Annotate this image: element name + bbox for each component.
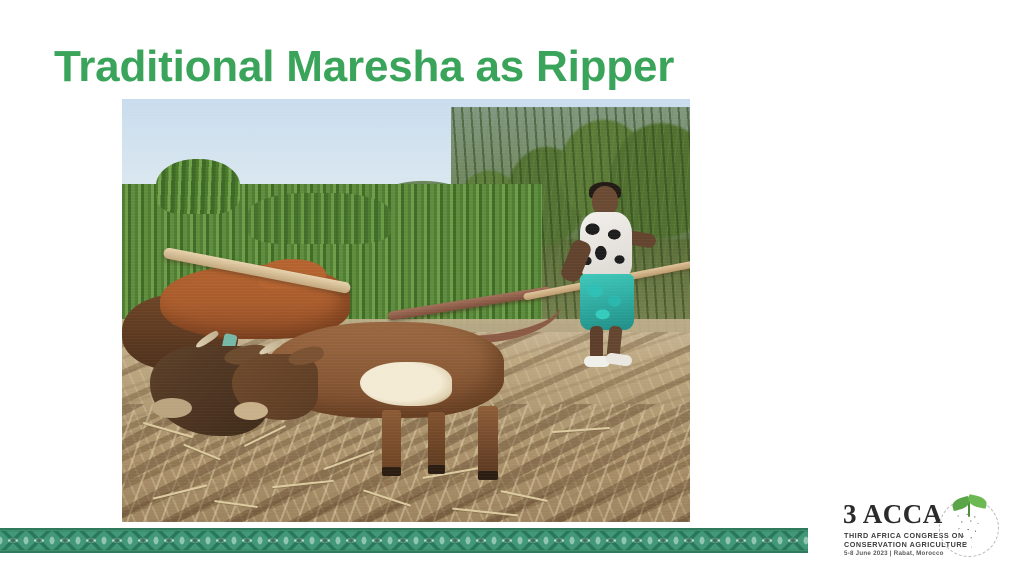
africa-seedling-icon: [935, 495, 1009, 561]
farmer-leg-left: [590, 326, 603, 360]
ox-hoof: [478, 471, 498, 480]
ox-muzzle: [234, 402, 268, 420]
ox-white-patch: [360, 362, 452, 406]
page-title: Traditional Maresha as Ripper: [54, 40, 674, 94]
ox-front-brown-white: [232, 314, 532, 484]
farmer-sandal-right: [605, 352, 632, 367]
farmer-teal-skirt: [580, 274, 634, 330]
ox-leg: [428, 412, 445, 470]
ox-muzzle: [152, 398, 192, 418]
ox-leg: [382, 410, 401, 472]
ox-hoof: [382, 467, 401, 476]
ox-hoof: [428, 465, 445, 474]
logo-wordmark: 3 ACCA: [843, 499, 943, 529]
footer-ornament-band: [0, 528, 808, 553]
band-motif-layer-2: [0, 531, 808, 550]
acca-logo: 3 ACCA THIRD AFRICA CONGRESS ON CONSERVA…: [843, 497, 1013, 565]
farmer-woman: [570, 184, 652, 374]
ox-leg: [478, 406, 498, 476]
slide-photo: [122, 99, 690, 522]
logo-date-location: 5-8 June 2023 | Rabat, Morocco: [844, 550, 944, 558]
slide-canvas: Traditional Maresha as Ripper: [0, 0, 1024, 576]
